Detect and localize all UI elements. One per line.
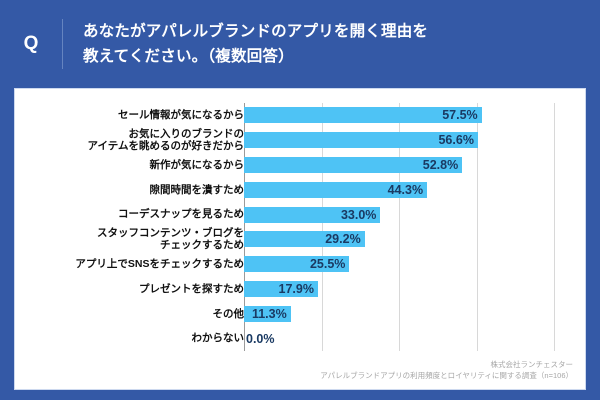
chart-bar-wrap: 44.3% (244, 177, 427, 202)
chart-row: スタッフコンテンツ・ブログを チェックするため29.2% (15, 227, 585, 252)
chart-bar-value: 0.0% (246, 332, 275, 346)
chart-row: コーデスナップを見るため33.0% (15, 202, 585, 227)
chart-bar-wrap: 57.5% (244, 103, 482, 128)
chart-bar-wrap: 17.9% (244, 277, 318, 302)
chart-bar-value: 11.3% (252, 307, 291, 321)
chart-row: プレゼントを探すため17.9% (15, 277, 585, 302)
page-title: あなたがアパレルブランドのアプリを開く理由を 教えてください。（複数回答） (63, 19, 600, 69)
chart-category-label: わからない (19, 332, 244, 344)
chart-bar: 33.0% (244, 207, 380, 223)
chart-bar: 17.9% (244, 281, 318, 297)
chart-category-label: コーデスナップを見るため (19, 208, 244, 220)
chart-category-label: お気に入りのブランドの アイテムを眺めるのが好きだから (19, 128, 244, 153)
chart-bar-wrap: 11.3% (244, 301, 291, 326)
chart-card: セール情報が気になるから57.5%お気に入りのブランドの アイテムを眺めるのが好… (14, 88, 586, 390)
chart-category-label: スタッフコンテンツ・ブログを チェックするため (19, 227, 244, 252)
chart-bar-value: 25.5% (310, 257, 349, 271)
chart-row: セール情報が気になるから57.5% (15, 103, 585, 128)
chart-footer: 株式会社ランチェスター アパレルブランドアプリの利用頻度とロイヤリティに関する調… (320, 359, 573, 382)
chart-bar-value: 52.8% (423, 158, 462, 172)
chart-bar-value: 44.3% (388, 183, 427, 197)
chart-bar-wrap: 25.5% (244, 252, 349, 277)
question-header: Q あなたがアパレルブランドのアプリを開く理由を 教えてください。（複数回答） (0, 0, 600, 88)
chart-category-label: アプリ上でSNSをチェックするため (19, 258, 244, 270)
chart-bar-wrap: 56.6% (244, 128, 478, 153)
chart-row: 新作が気になるから52.8% (15, 153, 585, 178)
chart-category-label: その他 (19, 308, 244, 320)
chart-category-label: 隙間時間を潰すため (19, 184, 244, 196)
question-badge: Q (0, 34, 62, 55)
chart-rows: セール情報が気になるから57.5%お気に入りのブランドの アイテムを眺めるのが好… (15, 103, 585, 351)
chart-row: 隙間時間を潰すため44.3% (15, 177, 585, 202)
chart-bar-value: 33.0% (341, 208, 380, 222)
header-divider (62, 19, 63, 69)
footer-survey-note: アパレルブランドアプリの利用頻度とロイヤリティに関する調査（n=106） (320, 370, 573, 381)
chart-bar-wrap: 33.0% (244, 202, 380, 227)
chart-row: お気に入りのブランドの アイテムを眺めるのが好きだから56.6% (15, 128, 585, 153)
chart-category-label: プレゼントを探すため (19, 283, 244, 295)
survey-chart-screen: Q あなたがアパレルブランドのアプリを開く理由を 教えてください。（複数回答） … (0, 0, 600, 400)
page-title-line-1: あなたがアパレルブランドのアプリを開く理由を (83, 19, 582, 44)
chart-category-label: セール情報が気になるから (19, 109, 244, 121)
chart-bar-wrap: 29.2% (244, 227, 365, 252)
page-title-line-2: 教えてください。（複数回答） (83, 44, 582, 69)
chart-row: アプリ上でSNSをチェックするため25.5% (15, 252, 585, 277)
chart-bar: 52.8% (244, 157, 462, 173)
chart-bar: 25.5% (244, 256, 349, 272)
chart-bar: 56.6% (244, 132, 478, 148)
chart-bar-value: 56.6% (438, 133, 477, 147)
chart-bar-value: 17.9% (279, 282, 318, 296)
chart-bar: 44.3% (244, 182, 427, 198)
chart-category-label: 新作が気になるから (19, 159, 244, 171)
chart-bar-wrap: 52.8% (244, 153, 462, 178)
chart-row: わからない0.0% (15, 326, 585, 351)
chart-bar: 29.2% (244, 231, 365, 247)
bar-chart: セール情報が気になるから57.5%お気に入りのブランドの アイテムを眺めるのが好… (15, 89, 585, 389)
footer-company: 株式会社ランチェスター (320, 359, 573, 370)
chart-bar-value: 29.2% (325, 232, 364, 246)
chart-bar: 11.3% (244, 306, 291, 322)
chart-row: その他11.3% (15, 301, 585, 326)
chart-bar: 57.5% (244, 107, 482, 123)
chart-bar-value: 57.5% (442, 108, 481, 122)
